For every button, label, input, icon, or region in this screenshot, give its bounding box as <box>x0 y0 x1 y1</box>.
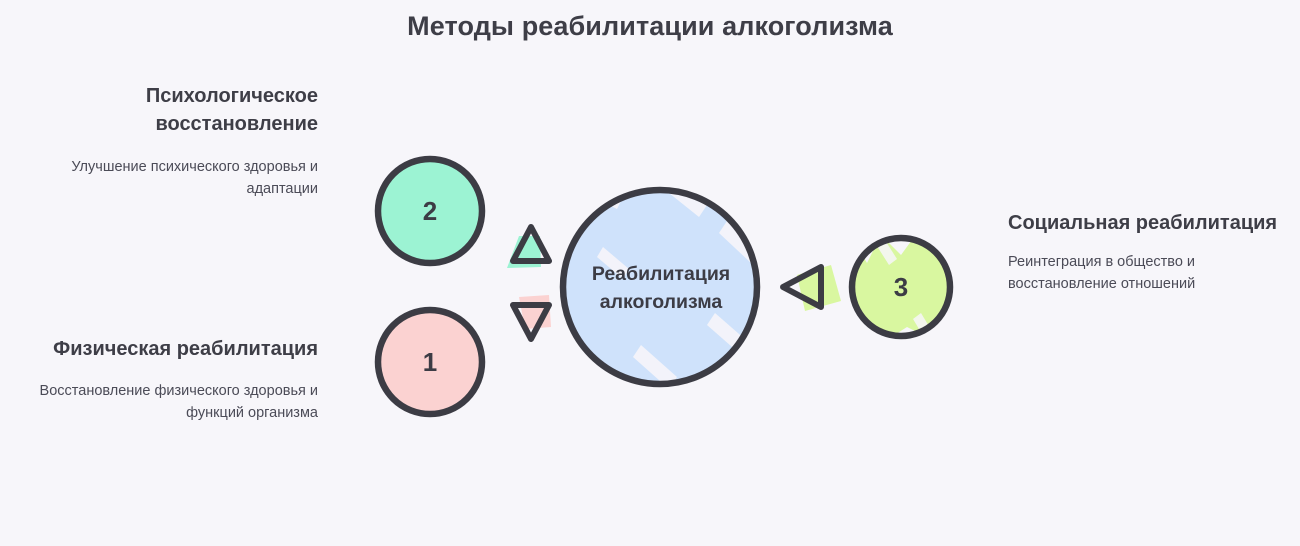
node-2-fill <box>369 147 491 275</box>
arrow-up-psychological[interactable] <box>507 227 549 268</box>
arrow-down-physical[interactable] <box>513 295 551 339</box>
infographic-canvas: Методы реабилитации алкоголизма Психолог… <box>0 0 1300 546</box>
node-circle-2[interactable] <box>369 147 491 275</box>
body-social: Реинтеграция в общество и восстановление… <box>1008 251 1278 295</box>
text-block-physical: Физическая реабилитация Восстановление ф… <box>28 335 318 424</box>
arrow-left-social[interactable] <box>783 265 841 311</box>
page-title: Методы реабилитации алкоголизма <box>0 11 1300 42</box>
text-block-social: Социальная реабилитация Реинтеграция в о… <box>1008 209 1278 295</box>
heading-physical: Физическая реабилитация <box>28 335 318 363</box>
node-circle-center[interactable] <box>551 171 767 401</box>
body-psychological: Улучшение психического здоровья и адапта… <box>28 156 318 200</box>
node-circle-1[interactable] <box>367 299 495 429</box>
heading-psychological: Психологическое восстановление <box>28 82 318 139</box>
diagram-graphic <box>355 135 960 430</box>
node-1-fill <box>367 299 495 429</box>
text-block-psychological: Психологическое восстановление Улучшение… <box>28 82 318 200</box>
heading-social: Социальная реабилитация <box>1008 209 1278 237</box>
body-physical: Восстановление физического здоровья и фу… <box>28 380 318 424</box>
node-circle-3[interactable] <box>849 233 957 341</box>
